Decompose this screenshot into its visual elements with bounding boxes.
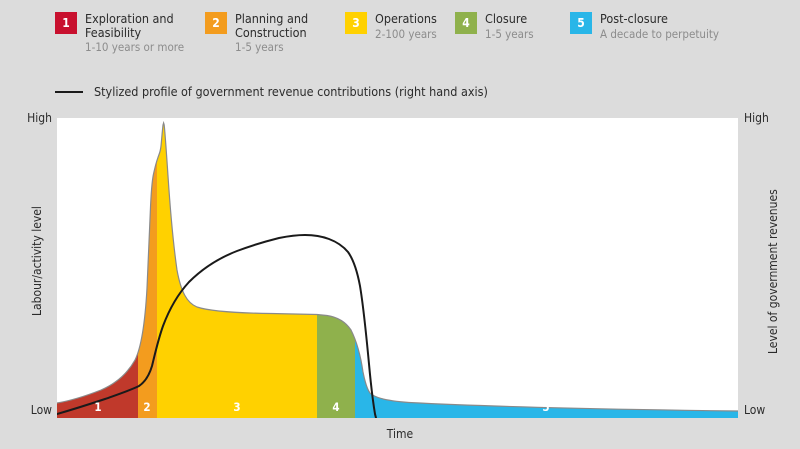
legend-duration-4: 1-5 years [485, 27, 534, 41]
legend-revenue-line-label: Stylized profile of government revenue c… [94, 85, 488, 99]
segment-label-1: 1 [87, 400, 109, 414]
legend-item-1[interactable]: 1 Exploration and Feasibility 1-10 years… [55, 12, 184, 54]
legend-item-5[interactable]: 5 Post-closure A decade to perpetuity [570, 12, 719, 41]
legend-chip-4: 4 [455, 12, 477, 34]
legend-title-3: Operations [375, 12, 437, 26]
legend-item-4[interactable]: 4 Closure 1-5 years [455, 12, 534, 41]
segment-label-3: 3 [226, 400, 248, 414]
y-axis-left-title: Labour/activity level [30, 206, 44, 316]
chart-svg [57, 118, 738, 418]
y-axis-right-low-label: Low [744, 404, 765, 416]
legend-item-3[interactable]: 3 Operations 2-100 years [345, 12, 437, 41]
legend-item-2[interactable]: 2 Planning and Construction 1-5 years [205, 12, 308, 54]
plot-area: 1 2 3 4 5 [57, 118, 738, 418]
legend-chip-3: 3 [345, 12, 367, 34]
legend-chip-2: 2 [205, 12, 227, 34]
y-axis-right-high-label: High [744, 112, 769, 124]
legend-duration-5: A decade to perpetuity [600, 27, 719, 41]
line-swatch-icon [55, 91, 83, 93]
legend-duration-3: 2-100 years [375, 27, 437, 41]
legend-title-1: Exploration and Feasibility [85, 12, 184, 39]
x-axis-title: Time [0, 427, 800, 441]
legend-duration-1: 1-10 years or more [85, 40, 184, 54]
segment-label-2: 2 [136, 400, 158, 414]
segment-label-5: 5 [535, 400, 557, 414]
segment-label-4: 4 [325, 400, 347, 414]
legend-title-4: Closure [485, 12, 534, 26]
y-axis-right-title: Level of government revenues [766, 189, 780, 354]
legend: 1 Exploration and Feasibility 1-10 years… [0, 0, 800, 70]
legend-title-2: Planning and Construction [235, 12, 308, 39]
chart-root: 1 Exploration and Feasibility 1-10 years… [0, 0, 800, 449]
legend-title-5: Post-closure [600, 12, 719, 26]
legend-duration-2: 1-5 years [235, 40, 308, 54]
y-axis-left-low-label: Low [24, 404, 52, 416]
y-axis-left-high-label: High [24, 112, 52, 124]
legend-chip-5: 5 [570, 12, 592, 34]
legend-chip-1: 1 [55, 12, 77, 34]
legend-item-revenue-line[interactable]: Stylized profile of government revenue c… [55, 85, 488, 99]
labour-activity-area [57, 123, 738, 418]
